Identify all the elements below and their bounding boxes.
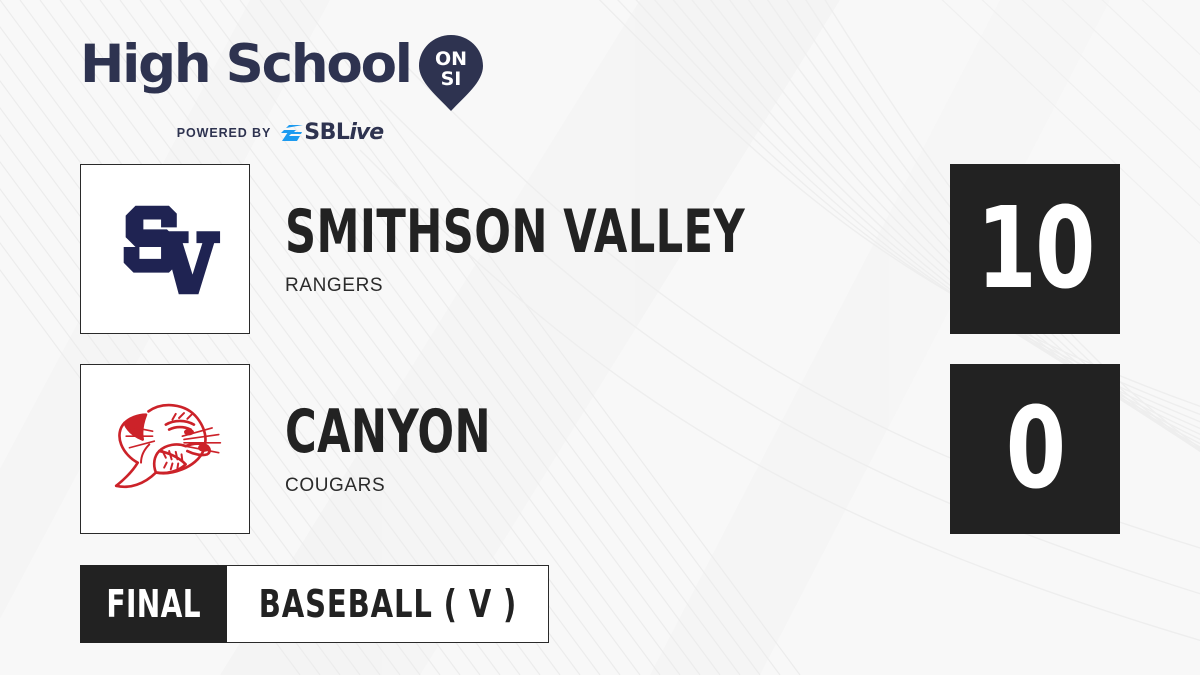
status-state-label: FINAL <box>106 582 201 626</box>
pin-text-on: ON <box>435 48 467 70</box>
sblive-sbl: SBL <box>304 120 349 145</box>
sblive-logo[interactable]: SBLive <box>280 122 383 144</box>
team-mascot: COUGARS <box>285 475 543 497</box>
team-score-box: 10 <box>950 164 1120 334</box>
team-score: 0 <box>1006 393 1065 505</box>
team-mascot: RANGERS <box>285 275 860 297</box>
team-info: SMITHSON VALLEY RANGERS <box>285 164 860 334</box>
map-pin-icon: ON SI <box>417 34 485 112</box>
status-sport-label: BASEBALL ( V ) <box>258 582 516 626</box>
site-logo[interactable]: High School ON SI POWERED BY SBLive <box>80 36 510 144</box>
status-badge-final: FINAL <box>80 565 227 643</box>
sblive-wordmark: SBLive <box>304 122 383 144</box>
pin-text-si: SI <box>440 68 461 90</box>
team-score-box: 0 <box>950 364 1120 534</box>
team-info: CANYON COUGARS <box>285 364 543 534</box>
onsi-pin-badge: ON SI <box>417 34 485 117</box>
team-name: CANYON <box>285 402 491 462</box>
powered-by-label: POWERED BY <box>177 126 271 140</box>
sblive-s-mark-icon <box>280 123 304 143</box>
status-sport-block: BASEBALL ( V ) <box>227 565 549 643</box>
team-logo-card[interactable] <box>80 164 250 334</box>
canyon-cougar-head-icon <box>103 393 227 505</box>
wordmark-high-school: High School <box>80 36 411 94</box>
team-logo-card[interactable] <box>80 364 250 534</box>
team-score: 10 <box>976 193 1093 305</box>
game-status-bar: FINAL BASEBALL ( V ) <box>80 565 549 643</box>
powered-by-row: POWERED BY SBLive <box>80 122 480 144</box>
logo-row: High School ON SI <box>80 36 510 117</box>
smithson-valley-sv-monogram-icon <box>106 190 224 308</box>
team-name: SMITHSON VALLEY <box>285 202 745 262</box>
sblive-ive: ive <box>349 120 383 145</box>
